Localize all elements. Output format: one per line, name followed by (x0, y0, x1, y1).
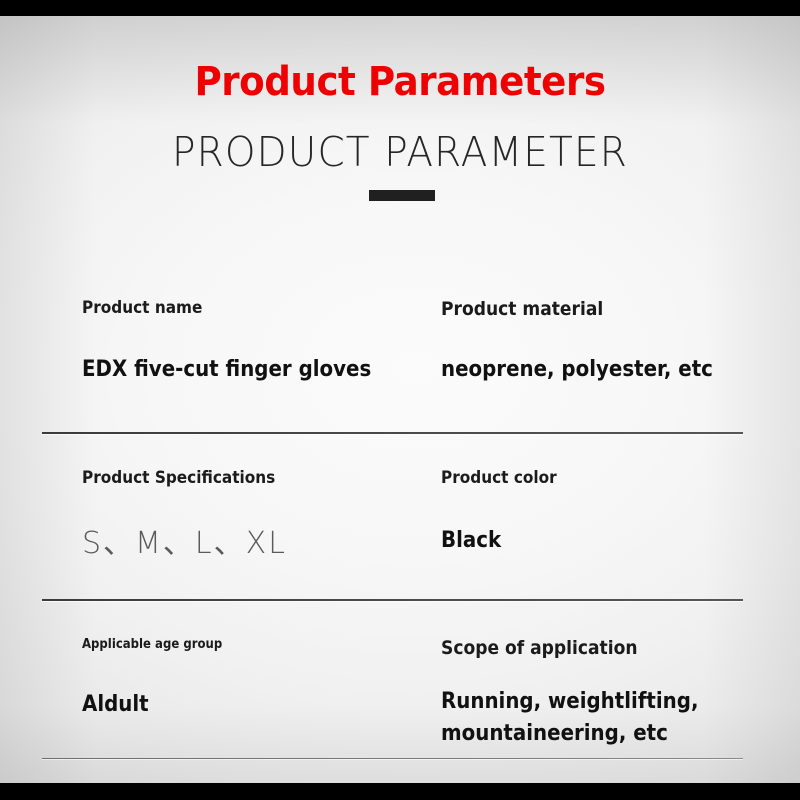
value-product-color: Black (441, 526, 501, 556)
value-product-specifications: S、M、L、XL (82, 518, 287, 562)
label-product-specifications: Product Specifications (82, 468, 275, 488)
value-applicable-age-group: Aldult (82, 690, 149, 720)
row-2-right-cell: Product color (441, 468, 570, 488)
row-3-right-cell: Scope of application (441, 637, 659, 659)
title-underline-rule (369, 190, 435, 201)
row-2-left-cell: Product Specifications (82, 468, 297, 488)
label-product-name: Product name (82, 298, 202, 318)
row-1-right-value-cell: neoprene, polyester, etc (441, 355, 743, 385)
row-2-left-value-cell: S、M、L、XL (82, 518, 287, 562)
label-applicable-age-group: Applicable age group (82, 637, 222, 652)
row-3-left-cell: Applicable age group (82, 637, 238, 652)
label-product-color: Product color (441, 468, 557, 488)
image-content: Product Parameters PRODUCT PARAMETER Pro… (0, 0, 800, 800)
row-divider-2 (42, 599, 743, 601)
row-divider-1 (42, 432, 743, 434)
row-3-left-value-cell: Aldult (82, 690, 156, 720)
row-1-right-cell: Product material (441, 298, 621, 320)
row-2-right-value-cell: Black (441, 526, 508, 556)
label-scope-of-application: Scope of application (441, 637, 638, 659)
row-1-left-cell: Product name (82, 298, 216, 318)
letterbox-bar-bottom (0, 783, 800, 800)
row-divider-3 (42, 758, 743, 759)
value-product-name: EDX five-cut finger gloves (82, 355, 371, 385)
page-title: Product Parameters (28, 58, 772, 106)
value-product-material: neoprene, polyester, etc (441, 355, 713, 385)
value-scope-of-application: Running, weightlifting, mountaineering, … (441, 686, 765, 750)
row-1-left-value-cell: EDX five-cut finger gloves (82, 355, 403, 385)
label-product-material: Product material (441, 298, 603, 320)
row-3-right-value-cell: Running, weightlifting, mountaineering, … (441, 686, 800, 750)
product-parameters-image: Product Parameters PRODUCT PARAMETER Pro… (0, 0, 800, 800)
page-subtitle: PRODUCT PARAMETER (20, 128, 780, 176)
